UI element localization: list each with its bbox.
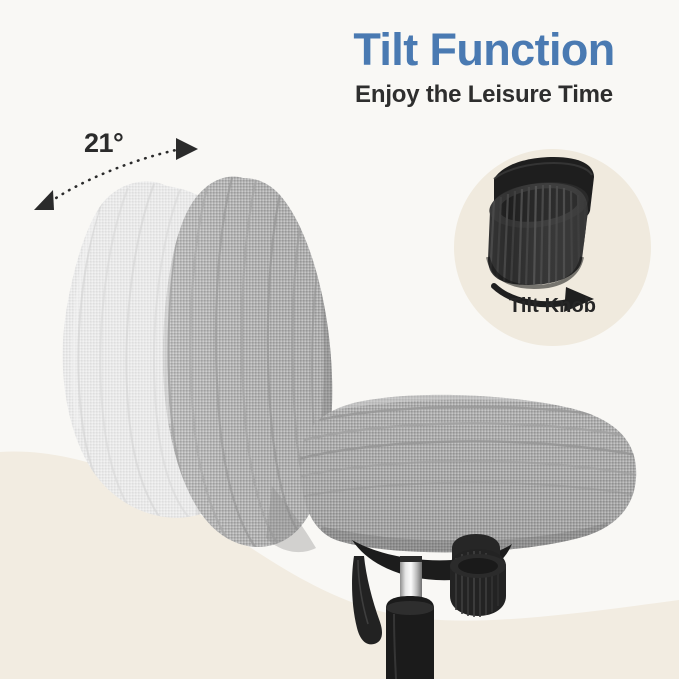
height-lever[interactable] (352, 556, 382, 644)
product-feature-image: 21° (0, 0, 679, 679)
tilt-knob-callout: Tilt Knob (454, 149, 651, 346)
tilt-knob[interactable] (450, 534, 506, 617)
tilt-angle-label: 21° (84, 128, 123, 159)
headline-block: Tilt Function Enjoy the Leisure Time (296, 24, 672, 110)
base-column (386, 596, 434, 679)
tilt-angle-annotation: 21° (20, 118, 220, 218)
page-title: Tilt Function (296, 24, 672, 76)
page-subtitle: Enjoy the Leisure Time (296, 80, 672, 110)
tilt-knob-label: Tilt Knob (454, 295, 651, 318)
